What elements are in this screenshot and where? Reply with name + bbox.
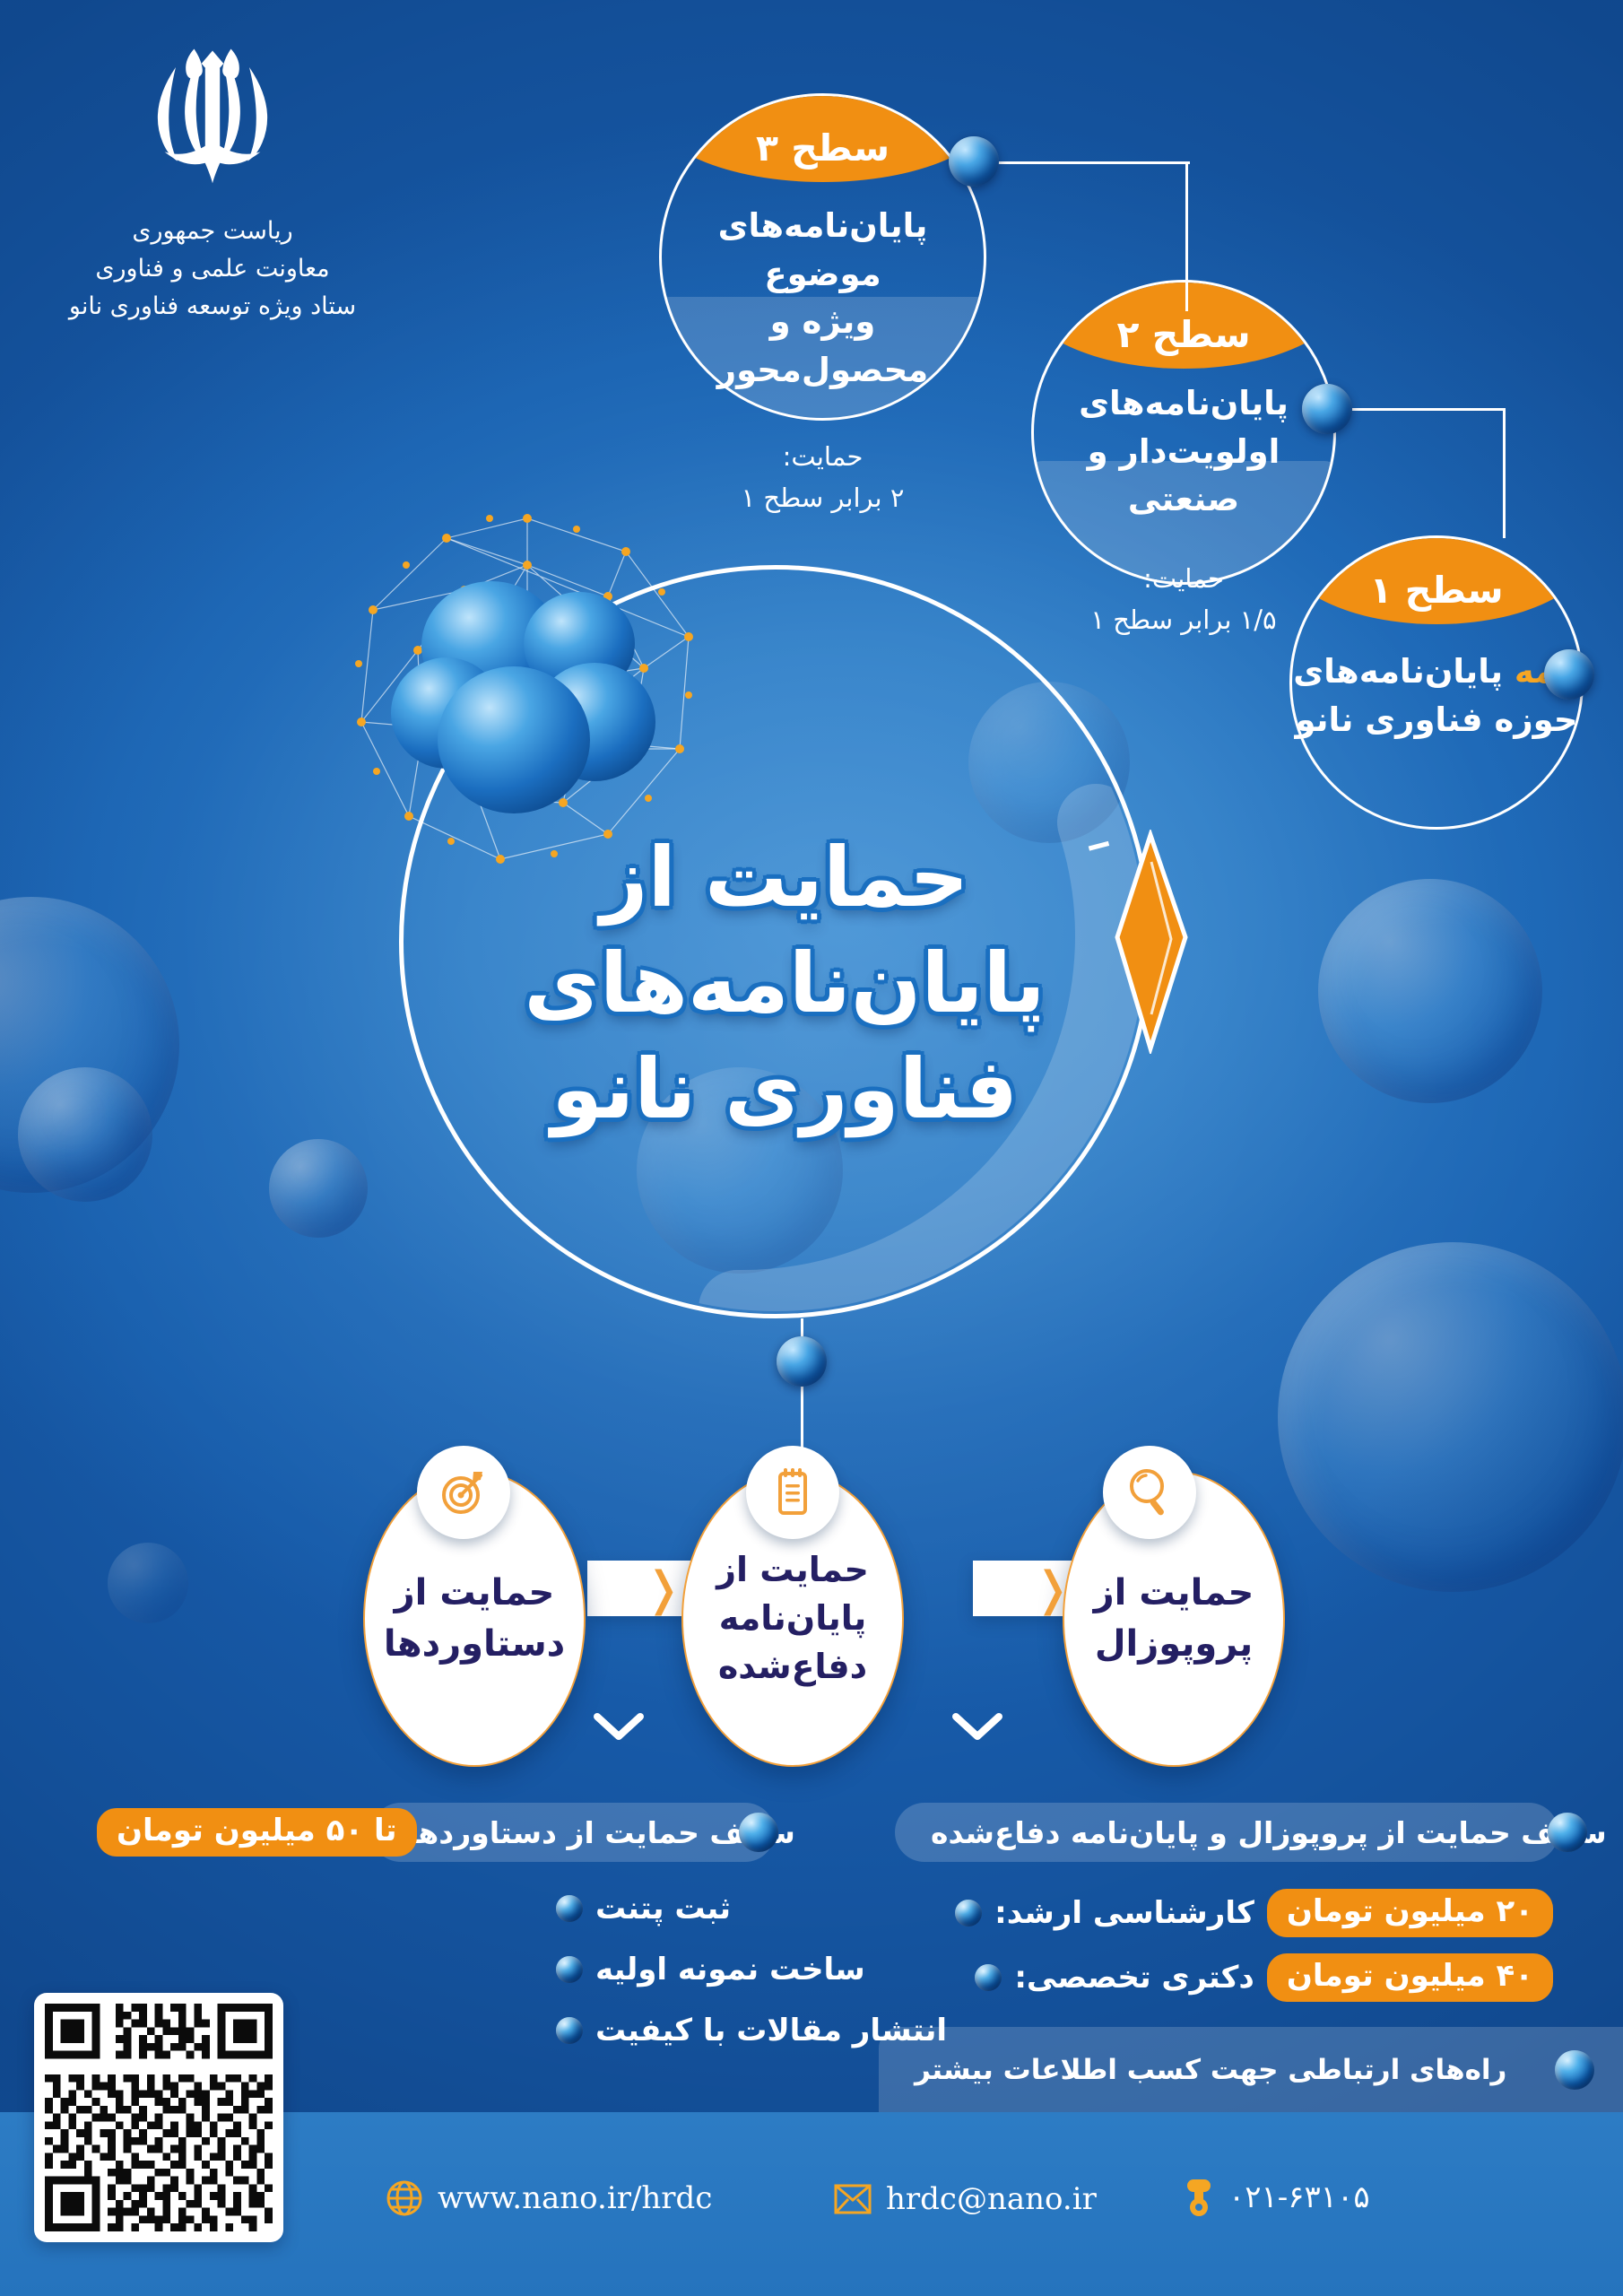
level1-body-line1: پایان‌نامه‌های [1293,652,1503,691]
support-cap-left-header: سقف حمایت از دستاوردها [371,1803,775,1862]
decorative-bubble [108,1543,188,1623]
website-text: www.nano.ir/hrdc [438,2180,712,2216]
level3-body-line1: پایان‌نامه‌های موضوع [718,206,928,293]
stage-achievements-label: حمایت از دستاوردها [371,1568,577,1670]
level2-support-value: ۱/۵ برابر سطح ۱ [1090,599,1276,640]
support-left-item-patent: ثبت پتنت [556,1891,731,1926]
stage-achievements-icon-badge [417,1446,510,1539]
stage-proposal-icon-badge [1103,1446,1196,1539]
level2-body-line1: پایان‌نامه‌های [1079,384,1289,422]
level3-support-value: ۲ برابر سطح ۱ [742,477,905,518]
logo-line-2: معاونت علمی و فناوری [65,250,360,288]
stage-proposal-label: حمایت از پروپوزال [1081,1568,1267,1670]
level2-body-line2: اولویت‌دار و صنعتی [1088,432,1280,519]
stage-chevron-left-icon: ❬ [644,1566,683,1613]
patent-label: ثبت پتنت [595,1891,731,1926]
contact-phone[interactable]: ۰۲۱-۶۳۱۰۵ [1184,2178,1370,2217]
level1-body: همه پایان‌نامه‌های حوزه فناوری نانو [1293,648,1580,744]
stage-proposal-line2: پروپوزال [1095,1623,1253,1665]
connector-level2-to-level1 [1503,408,1506,538]
connector-level3-horizontal [973,161,1190,164]
logo-line-1: ریاست جمهوری [65,213,360,250]
level-circle-2: سطح ۲ پایان‌نامه‌های اولویت‌دار و صنعتی … [1031,280,1336,585]
title-line-1: حمایت از [502,825,1067,931]
support-cap-left-pearl [739,1813,778,1852]
support-cap-right-pearl [1548,1813,1587,1852]
level2-body: پایان‌نامه‌های اولویت‌دار و صنعتی [1034,379,1333,524]
level3-body-line2: ویژه و محصول‌محور [717,302,928,389]
support-right-item-phd: دکتری تخصصی: ۴۰ میلیون تومان [975,1953,1553,2002]
level3-cap-label: سطح ۳ [662,96,984,182]
masters-amount: ۲۰ میلیون تومان [1267,1889,1553,1937]
level3-support: حمایت: ۲ برابر سطح ۱ [742,436,905,519]
level1-cap-label: سطح ۱ [1292,538,1581,624]
footer-header-pearl [1555,2050,1594,2090]
iran-emblem-icon [118,32,307,207]
level-circle-1: سطح ۱ همه پایان‌نامه‌های حوزه فناوری نان… [1289,535,1584,830]
footer-header: راه‌های ارتباطی جهت کسب اطلاعات بیشتر [879,2027,1623,2112]
down-chevron-left-icon [592,1711,646,1751]
down-chevron-right-icon [950,1711,1004,1751]
stage-achievements-line2: دستاوردها [384,1623,565,1665]
bullet-pearl [556,1956,583,1983]
level2-support: حمایت: ۱/۵ برابر سطح ۱ [1090,558,1276,641]
bullet-pearl [975,1964,1002,1991]
phd-label: دکتری تخصصی: [1014,1960,1254,1996]
level1-node [1544,649,1594,700]
ring-bottom-node [777,1336,827,1387]
logo-line-3: ستاد ویژه توسعه فناوری نانو [65,288,360,326]
clipboard-icon [773,1466,812,1518]
stage-thesis-line3: دفاع‌شده [718,1647,867,1686]
poster-canvas: ریاست جمهوری معاونت علمی و فناوری ستاد و… [0,0,1623,2296]
target-icon [438,1466,490,1518]
level3-node [949,136,999,187]
ring-diamond-marker [1110,830,1191,1054]
stage-thesis-line2: پایان‌نامه [719,1598,867,1638]
support-cap-left-title: سقف حمایت از دستاوردها [407,1815,795,1850]
stage-achievements-line1: حمایت از [395,1572,555,1613]
magnifier-icon [1124,1466,1175,1518]
level3-support-label: حمایت: [742,436,905,477]
level2-node [1302,384,1352,434]
prototype-label: ساخت نمونه اولیه [595,1952,865,1987]
articles-label: انتشار مقالات با کیفیت [595,2013,947,2048]
support-left-item-prototype: ساخت نمونه اولیه [556,1952,865,1987]
contact-website[interactable]: www.nano.ir/hrdc [386,2179,712,2217]
decorative-bubble [18,1067,152,1202]
decorative-bubble [1318,879,1542,1103]
qr-code[interactable] [34,1993,283,2242]
level-circle-3: سطح ۳ پایان‌نامه‌های موضوع ویژه و محصول‌… [659,93,986,421]
support-cap-right-title: سقف حمایت از پروپوزال و پایان‌نامه دفاع‌… [931,1815,1607,1850]
bullet-pearl [556,2017,583,2044]
title-line-2: پایان‌نامه‌های [502,931,1067,1037]
bullet-pearl [556,1895,583,1922]
footer-header-title: راه‌های ارتباطی جهت کسب اطلاعات بیشتر [915,2054,1506,2086]
stage-thesis-icon-badge [746,1446,839,1539]
support-cap-left-badge: تا ۵۰ میلیون تومان [97,1808,417,1857]
stage-thesis-label: حمایت از پایان‌نامه دفاع‌شده [704,1546,881,1692]
contact-email[interactable]: hrdc@nano.ir [834,2181,1097,2217]
phone-text: ۰۲۱-۶۳۱۰۵ [1228,2179,1370,2215]
nanoparticle-graphic [339,502,716,879]
stage-chevron-right-icon: ❬ [1033,1566,1072,1613]
level2-support-label: حمایت: [1090,558,1276,599]
decorative-bubble [269,1139,368,1238]
qr-code-image [45,2004,273,2231]
envelope-icon [834,2184,872,2214]
poster-title: حمایت از پایان‌نامه‌های فناوری نانو [502,825,1067,1142]
support-left-item-articles: انتشار مقالات با کیفیت [556,2013,947,2048]
bullet-pearl [955,1900,982,1926]
connector-level2-horizontal [1327,408,1505,411]
level3-body: پایان‌نامه‌های موضوع ویژه و محصول‌محور [662,202,984,395]
stage-thesis-line1: حمایت از [716,1550,869,1589]
support-right-item-masters: کارشناسی ارشد: ۲۰ میلیون تومان [955,1889,1553,1937]
email-text: hrdc@nano.ir [886,2181,1097,2217]
masters-label: کارشناسی ارشد: [994,1895,1254,1931]
support-cap-right-header: سقف حمایت از پروپوزال و پایان‌نامه دفاع‌… [895,1803,1558,1862]
phone-icon [1184,2178,1214,2217]
globe-icon [386,2179,423,2217]
level1-body-line2: حوزه فناوری نانو [1295,700,1577,739]
phd-amount: ۴۰ میلیون تومان [1267,1953,1553,2002]
title-line-3: فناوری نانو [502,1037,1067,1143]
decorative-bubble [1278,1242,1623,1592]
connector-level3-to-level2 [973,163,1188,311]
stage-proposal-line1: حمایت از [1094,1572,1254,1613]
organization-logo: ریاست جمهوری معاونت علمی و فناوری ستاد و… [65,32,360,326]
